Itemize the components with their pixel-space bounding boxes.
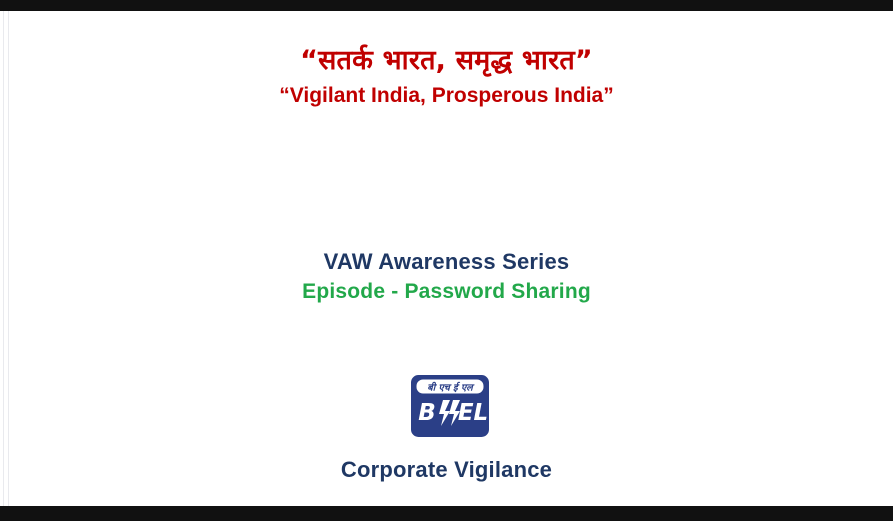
letterbox-top (0, 0, 893, 11)
bhel-logo-wordmark: B EL (418, 400, 488, 426)
slogan-english-text: “Vigilant India, Prosperous India” (0, 83, 893, 109)
bhel-logo: बी एच ई एल B EL (411, 375, 489, 437)
slogan-hindi-text: “सतर्क भारत, समृद्ध भारत” (0, 44, 893, 78)
svg-text:EL: EL (458, 400, 488, 426)
bhel-logo-graphic: बी एच ई एल B EL (411, 375, 489, 437)
slide-canvas: “सतर्क भारत, समृद्ध भारत” “Vigilant Indi… (0, 11, 893, 506)
slide-viewport: “सतर्क भारत, समृद्ध भारत” “Vigilant Indi… (0, 0, 893, 521)
series-title: VAW Awareness Series (0, 249, 893, 275)
bhel-logo-devanagari: बी एच ई एल (427, 382, 475, 394)
svg-text:B: B (418, 400, 436, 426)
organisation-footer: Corporate Vigilance (0, 457, 893, 483)
series-block: VAW Awareness Series Episode - Password … (0, 249, 893, 305)
slogan-block: “सतर्क भारत, समृद्ध भारत” “Vigilant Indi… (0, 44, 893, 109)
episode-title: Episode - Password Sharing (0, 279, 893, 304)
letterbox-bottom (0, 506, 893, 521)
